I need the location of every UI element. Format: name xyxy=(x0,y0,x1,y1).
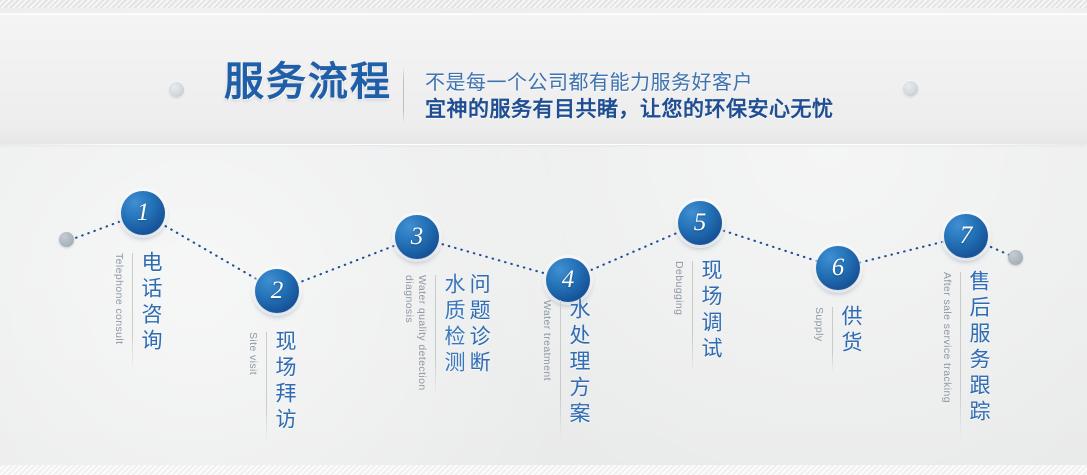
service-process-banner: 服务流程 不是每一个公司都有能力服务好客户 宜神的服务有目共睹，让您的环保安心无… xyxy=(0,0,1087,475)
step-label-en-5: Debugging xyxy=(672,261,685,315)
subtitle-line-2: 宜神的服务有目共睹，让您的环保安心无忧 xyxy=(425,95,834,123)
step-label-1: 电话咨询 Telephone consult xyxy=(112,251,162,369)
title-divider xyxy=(403,66,404,124)
step-label-2: 现场拜访 Site visit xyxy=(246,330,296,442)
step-number-1: 1 xyxy=(137,200,150,227)
step-label-5: 现场调试 Debugging xyxy=(672,259,722,373)
step-number-4: 4 xyxy=(562,267,575,294)
step-label-cn-1: 电话咨询 xyxy=(140,251,162,355)
header-panel: 服务流程 不是每一个公司都有能力服务好客户 宜神的服务有目共睹，让您的环保安心无… xyxy=(0,13,1087,144)
label-divider-1 xyxy=(132,253,133,369)
step-node-3[interactable]: 3 xyxy=(395,215,439,259)
step-label-4: 水处理方案 Water treatment xyxy=(540,298,590,440)
step-label-cn-2: 现场拜访 xyxy=(274,330,296,434)
step-node-5[interactable]: 5 xyxy=(678,201,722,245)
label-divider-3 xyxy=(435,275,436,397)
step-label-en-2: Site visit xyxy=(246,332,259,375)
step-number-6: 6 xyxy=(832,255,845,282)
step-node-1[interactable]: 1 xyxy=(121,191,165,235)
step-label-3: 问题诊断 水质检测 Water quality detection diagno… xyxy=(402,273,490,397)
step-label-en-3b: diagnosis xyxy=(402,275,415,323)
page-title: 服务流程 xyxy=(224,62,392,102)
label-divider-7 xyxy=(960,272,961,440)
label-divider-2 xyxy=(266,332,267,442)
label-divider-5 xyxy=(692,261,693,373)
label-divider-4 xyxy=(560,300,561,440)
step-node-4[interactable]: 4 xyxy=(546,258,590,302)
step-number-5: 5 xyxy=(694,210,707,237)
step-node-6[interactable]: 6 xyxy=(816,246,860,290)
step-label-en-4: Water treatment xyxy=(540,300,553,381)
label-divider-6 xyxy=(832,307,833,373)
step-label-cn-5: 现场调试 xyxy=(700,259,722,363)
step-label-en-6: Supply xyxy=(812,307,825,342)
step-label-7: 售后服务跟踪 After sale service tracking xyxy=(940,270,990,440)
step-number-2: 2 xyxy=(271,278,284,305)
flow-start-dot xyxy=(59,232,74,247)
step-number-7: 7 xyxy=(960,223,973,250)
step-label-6: 供货 Supply xyxy=(812,305,862,373)
top-hatch-strip xyxy=(0,0,1087,8)
process-flow: 1 2 3 4 5 6 7 电话咨询 Telephone consult 现场拜… xyxy=(0,143,1087,475)
step-label-cn-6: 供货 xyxy=(840,305,862,357)
step-node-2[interactable]: 2 xyxy=(255,269,299,313)
step-label-en-1: Telephone consult xyxy=(112,253,125,344)
step-label-en-7: After sale service tracking xyxy=(940,272,953,403)
screw-icon-left xyxy=(169,82,184,97)
step-label-cn-3b: 水质检测 xyxy=(443,273,465,377)
step-label-cn-4: 水处理方案 xyxy=(568,298,590,428)
flow-end-dot xyxy=(1008,250,1023,265)
screw-icon-right xyxy=(903,81,918,96)
step-node-7[interactable]: 7 xyxy=(944,214,988,258)
step-label-cn-3a: 问题诊断 xyxy=(468,273,490,377)
step-number-3: 3 xyxy=(411,224,424,251)
step-label-en-3a: Water quality detection xyxy=(415,275,428,391)
bottom-hatch-strip xyxy=(0,465,1087,475)
subtitle-block: 不是每一个公司都有能力服务好客户 宜神的服务有目共睹，让您的环保安心无忧 xyxy=(425,69,834,123)
step-label-cn-7: 售后服务跟踪 xyxy=(968,270,990,426)
subtitle-line-1: 不是每一个公司都有能力服务好客户 xyxy=(425,69,834,95)
